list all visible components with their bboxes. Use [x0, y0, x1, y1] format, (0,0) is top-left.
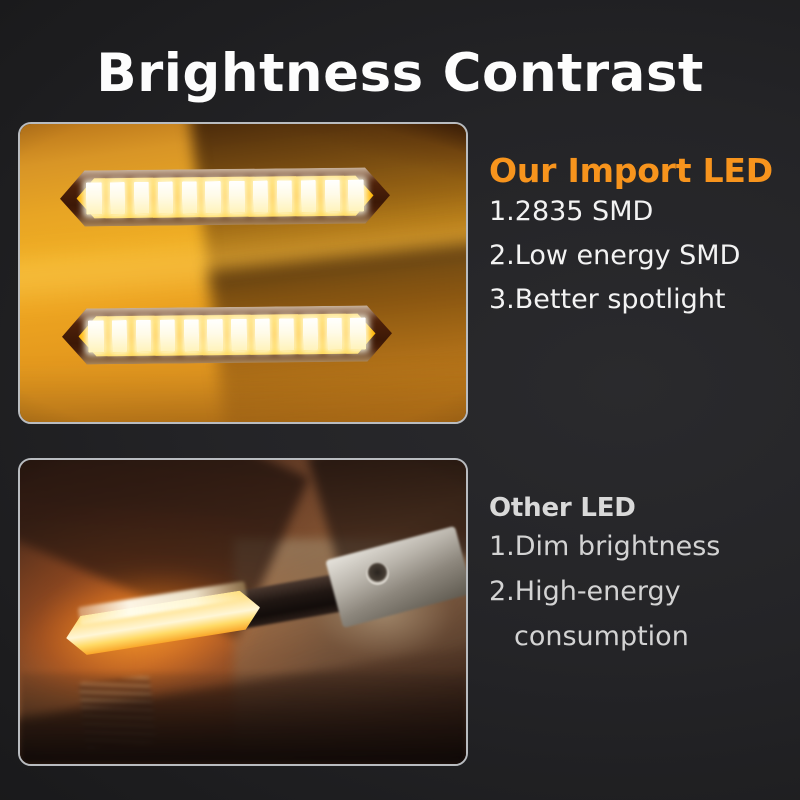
- other-led-photo-vignette: [20, 460, 466, 764]
- our-led-feature-list: 1.2835 SMD 2.Low energy SMD 3.Better spo…: [489, 190, 789, 322]
- list-item-line-wrapped: consumption: [489, 614, 789, 659]
- our-led-photo: [18, 122, 468, 424]
- other-led-feature-list: 1.Dim brightness 2.High-energy consumpti…: [489, 524, 789, 659]
- list-item: 2.High-energy consumption: [489, 569, 789, 659]
- our-led-heading: Our Import LED: [489, 152, 789, 190]
- list-item-line: 2.High-energy: [489, 576, 681, 607]
- list-item: 2.Low energy SMD: [489, 234, 789, 278]
- list-item: 1.2835 SMD: [489, 190, 789, 234]
- our-led-photo-vignette: [20, 124, 466, 422]
- other-led-photo: [18, 458, 468, 766]
- other-led-text-block: Other LED 1.Dim brightness 2.High-energy…: [489, 492, 789, 659]
- product-comparison-page: Brightness Contrast: [0, 0, 800, 800]
- our-led-text-block: Our Import LED 1.2835 SMD 2.Low energy S…: [489, 152, 789, 322]
- other-led-heading: Other LED: [489, 492, 789, 524]
- list-item-line: 1.Dim brightness: [489, 531, 720, 562]
- list-item: 3.Better spotlight: [489, 278, 789, 322]
- other-led-photo-inner: [20, 460, 466, 764]
- page-title: Brightness Contrast: [0, 46, 800, 102]
- list-item: 1.Dim brightness: [489, 524, 789, 569]
- our-led-photo-inner: [20, 124, 466, 422]
